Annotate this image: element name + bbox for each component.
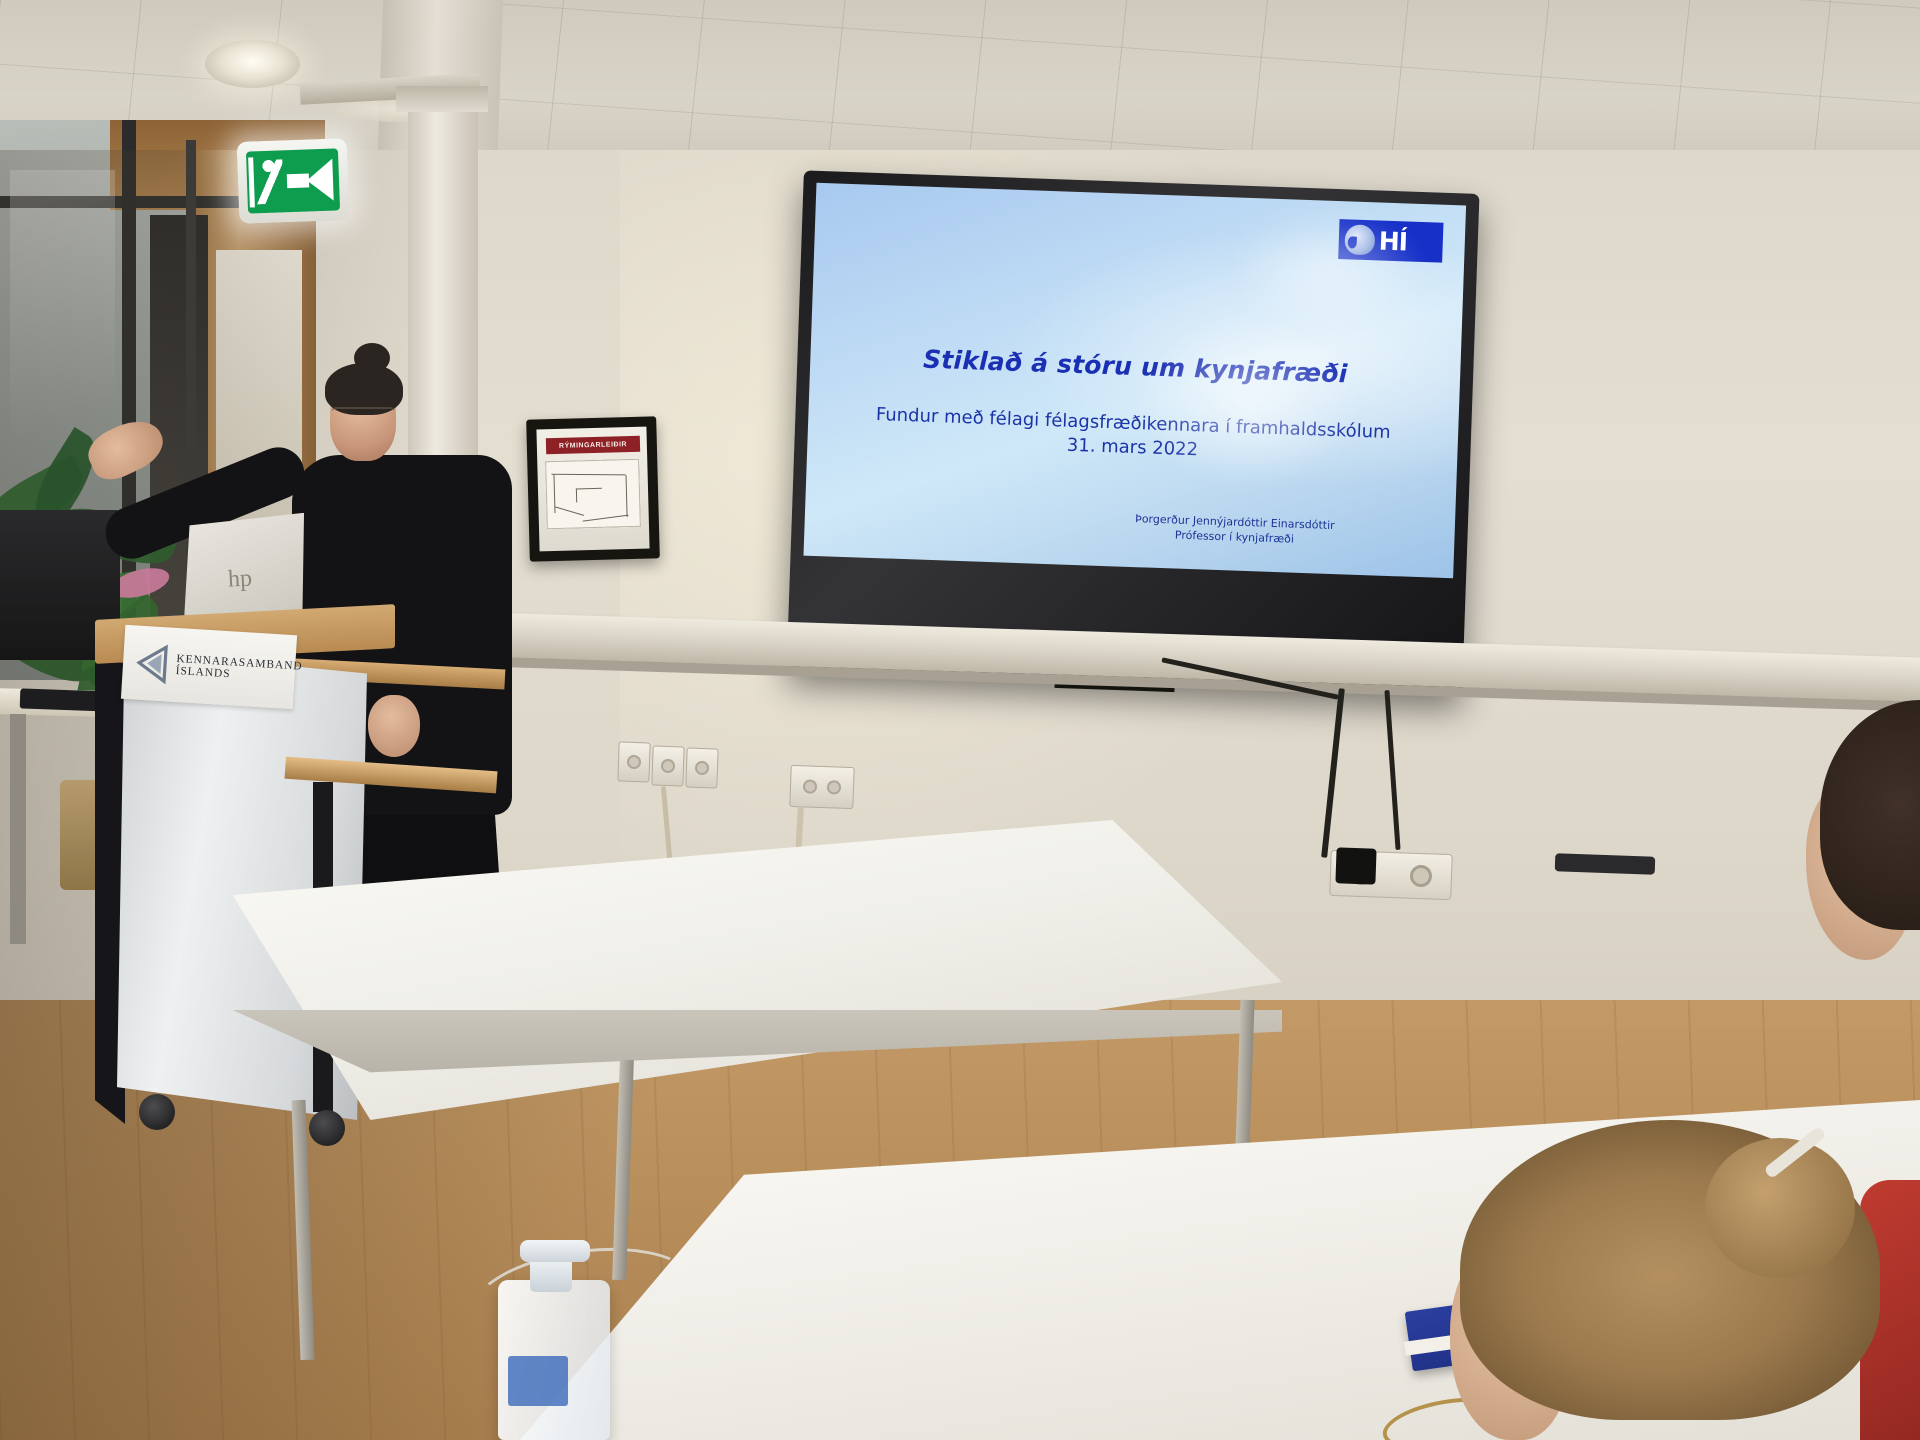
outlet-socket-right[interactable] xyxy=(1410,865,1433,888)
slide-subtitle: Fundur með félagi félagsfræðikennara í f… xyxy=(807,401,1458,471)
presenter-hair-bun xyxy=(354,343,390,373)
evacuation-plan-title: RÝMINGARLEIÐIR xyxy=(559,441,627,450)
emergency-exit-sign: emergency-exit-sign xyxy=(237,138,350,224)
black-plug xyxy=(1335,847,1376,884)
exit-sign-pictogram xyxy=(246,148,340,213)
kennarasamband-logo-icon xyxy=(134,643,170,685)
ceiling-downlight xyxy=(205,40,300,88)
lectern-caster-left xyxy=(139,1094,175,1130)
lectern-name-plate: KENNARASAMBAND ÍSLANDS xyxy=(121,625,297,709)
lectern-caster-right xyxy=(309,1110,345,1146)
screen-glare-secondary xyxy=(1232,207,1426,334)
audience-person-right: person with dark hair, right edge xyxy=(1820,700,1920,1030)
audience-person-foreground: person with blonde updo hair, foreground xyxy=(1460,1120,1880,1440)
screen-glare xyxy=(1136,314,1362,492)
sanitizer-neck xyxy=(530,1258,572,1292)
wall-socket-double[interactable] xyxy=(789,765,854,809)
presenter-left-hand xyxy=(81,411,170,487)
room-photo-scene: emergency-exit-sign RÝMINGARLEIÐIR xyxy=(0,0,1920,1440)
evacuation-plan-title-band: RÝMINGARLEIÐIR xyxy=(546,436,640,454)
running-person-icon xyxy=(254,159,284,204)
wall-mounted-tv[interactable]: HÍ Stiklað á stóru um kynjafræði Fundur … xyxy=(786,170,1479,693)
sanitizer-pump[interactable] xyxy=(520,1240,590,1262)
wall-socket-1[interactable] xyxy=(617,741,650,782)
wall-socket-2[interactable] xyxy=(651,745,684,786)
wall-socket-3[interactable] xyxy=(685,747,718,788)
side-desk-leg-1 xyxy=(10,714,26,944)
presenter-glasses xyxy=(332,407,394,421)
sanitizer-label-sticker xyxy=(508,1356,568,1406)
evacuation-plan-map xyxy=(545,459,641,529)
tv-screen-slide: HÍ Stiklað á stóru um kynjafræði Fundur … xyxy=(803,183,1466,578)
slide-title: Stiklað á stóru um kynjafræði xyxy=(810,341,1461,393)
lectern-organization-name: KENNARASAMBAND ÍSLANDS xyxy=(175,653,303,685)
tv-remote-control[interactable]: tv remote control xyxy=(1555,853,1656,874)
slide-author-block: Þorgerður Jennýjardóttir Einarsdóttir Pr… xyxy=(804,501,1455,553)
column-capital xyxy=(396,86,488,112)
hp-logo: hp xyxy=(227,565,254,592)
exit-arrow-icon xyxy=(306,159,333,202)
